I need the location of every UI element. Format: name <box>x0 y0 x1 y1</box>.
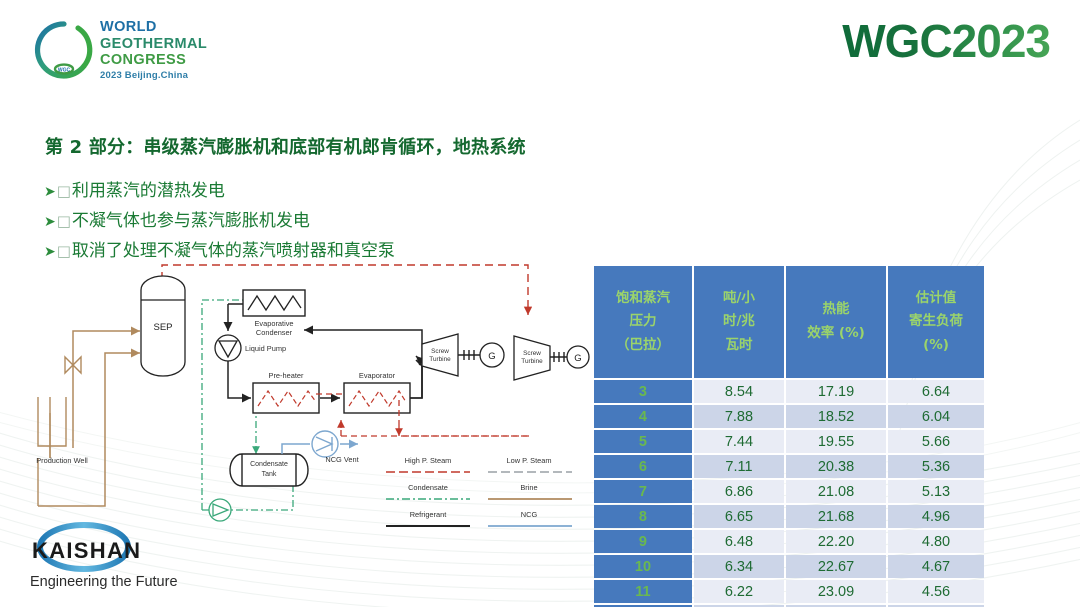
liquid-pump-label: Liquid Pump <box>245 344 286 353</box>
wgc-congress-logo: WGC WORLD GEOTHERMAL CONGRESS 2023 Beiji… <box>33 17 183 83</box>
evaporator-label: Evaporator <box>359 371 396 380</box>
table-row: 86.6521.684.96 <box>594 505 984 528</box>
slide-canvas: WGC WORLD GEOTHERMAL CONGRESS 2023 Beiji… <box>0 0 1080 607</box>
shaft-coupling-1 <box>458 350 480 360</box>
condensate-tank <box>230 454 308 486</box>
table-row: 96.4822.204.80 <box>594 530 984 553</box>
sep-label: SEP <box>153 322 172 333</box>
table-row: 57.4419.555.66 <box>594 430 984 453</box>
table-row: 106.3422.674.67 <box>594 555 984 578</box>
bullet-text: 不凝气体也参与蒸汽膨胀机发电 <box>72 206 310 231</box>
bullet-box-icon: □ <box>57 242 71 260</box>
bullet-arrow-icon: ➤ <box>44 244 56 260</box>
wgc-mark-label: WGC <box>58 67 71 73</box>
bullet-arrow-icon: ➤ <box>44 184 56 200</box>
kaishan-wordmark: KAISHAN <box>32 538 141 564</box>
bullet-list: ➤ □ 利用蒸汽的潜热发电 ➤ □ 不凝气体也参与蒸汽膨胀机发电 ➤ □ 取消了… <box>44 176 395 266</box>
list-item: ➤ □ 取消了处理不凝气体的蒸汽喷射器和真空泵 <box>44 236 395 261</box>
slide-header: WGC WORLD GEOTHERMAL CONGRESS 2023 Beiji… <box>0 0 1080 100</box>
evaporative-condenser-label-2: Condenser <box>256 328 293 337</box>
wgc-logo-line3: CONGRESS <box>100 53 207 68</box>
column-header-saturated-steam-pressure: 饱和蒸汽 压力 （巴拉） <box>594 266 692 378</box>
legend-label-high-p-steam: High P. Steam <box>405 456 452 465</box>
performance-data-table: 饱和蒸汽 压力 （巴拉） 吨/小 时/兆 瓦时 热能 效率 (%) 估计值 寄生… <box>592 264 986 607</box>
screw-turbine-1 <box>422 334 458 376</box>
pre-heater-label: Pre-heater <box>269 371 304 380</box>
column-header-thermal-efficiency: 热能 效率 (%) <box>786 266 886 378</box>
table-row: 47.8818.526.04 <box>594 405 984 428</box>
bullet-box-icon: □ <box>57 212 71 230</box>
evaporative-condenser-label-1: Evaporative <box>254 319 293 328</box>
kaishan-tagline: Engineering the Future <box>30 574 178 590</box>
wgc-logo-line4: 2023 Beijing.China <box>100 71 207 81</box>
bullet-text: 利用蒸汽的潜热发电 <box>72 176 225 201</box>
production-well-label: Production Well <box>36 456 88 465</box>
screw-turbine-1-label-b: Turbine <box>429 356 451 363</box>
kaishan-logo: KAISHAN Engineering the Future <box>14 520 194 598</box>
column-header-tons-per-hour-per-mwh: 吨/小 时/兆 瓦时 <box>694 266 784 378</box>
legend-label-refrigerant: Refrigerant <box>410 510 447 519</box>
column-header-estimated-parasitic-load: 估计值 寄生负荷 (%) <box>888 266 984 378</box>
legend-label-low-p-steam: Low P. Steam <box>506 456 551 465</box>
legend-label-brine: Brine <box>520 483 537 492</box>
high-pressure-steam-line <box>162 265 528 315</box>
process-flow-diagram: Production Well SEP <box>10 258 590 548</box>
page-title: 第 2 部分：串级蒸汽膨胀机和底部有机郎肯循环，地热系统 <box>45 133 526 159</box>
legend-label-condensate: Condensate <box>408 483 448 492</box>
table-row: 38.5417.196.64 <box>594 380 984 403</box>
wgc2023-brand: WGC2023 <box>842 18 1050 64</box>
legend-label-ncg: NCG <box>521 510 538 519</box>
liquid-pump-icon <box>215 335 241 361</box>
list-item: ➤ □ 利用蒸汽的潜热发电 <box>44 176 395 201</box>
screw-turbine-1-label-a: Screw <box>431 348 449 355</box>
list-item: ➤ □ 不凝气体也参与蒸汽膨胀机发电 <box>44 206 395 231</box>
wgc-emblem-icon: WGC <box>33 19 95 81</box>
condensate-tank-label-1: Condensate <box>250 461 288 468</box>
wgc-logo-wordmark: WORLD GEOTHERMAL CONGRESS 2023 Beijing.C… <box>100 20 207 80</box>
generator-2-label: G <box>574 353 581 364</box>
table-row: 76.8621.085.13 <box>594 480 984 503</box>
generator-1-label: G <box>488 351 495 362</box>
production-well <box>38 397 66 506</box>
table-row: 116.2223.094.56 <box>594 580 984 603</box>
bullet-box-icon: □ <box>57 182 71 200</box>
bullet-arrow-icon: ➤ <box>44 214 56 230</box>
table-row: 67.1120.385.36 <box>594 455 984 478</box>
ncg-fan-icon <box>312 431 338 457</box>
bullet-text: 取消了处理不凝气体的蒸汽喷射器和真空泵 <box>72 236 395 261</box>
wgc-logo-line1: WORLD <box>100 20 207 35</box>
brine-line <box>38 331 140 506</box>
screw-turbine-2-label-a: Screw <box>523 350 541 357</box>
table-header-row: 饱和蒸汽 压力 （巴拉） 吨/小 时/兆 瓦时 热能 效率 (%) 估计值 寄生… <box>594 266 984 378</box>
wgc-logo-line2: GEOTHERMAL <box>100 37 207 52</box>
shaft-coupling-2 <box>550 352 568 362</box>
condensate-pump-icon <box>209 499 231 521</box>
screw-turbine-2-label-b: Turbine <box>521 358 543 365</box>
refrigerant-to-turbine <box>410 356 422 398</box>
condensate-tank-label-2: Tank <box>262 471 277 478</box>
diagram-legend: High P. Steam Low P. Steam Condensate Br… <box>386 456 572 526</box>
ncg-vent-label: NCG Vent <box>325 455 358 464</box>
